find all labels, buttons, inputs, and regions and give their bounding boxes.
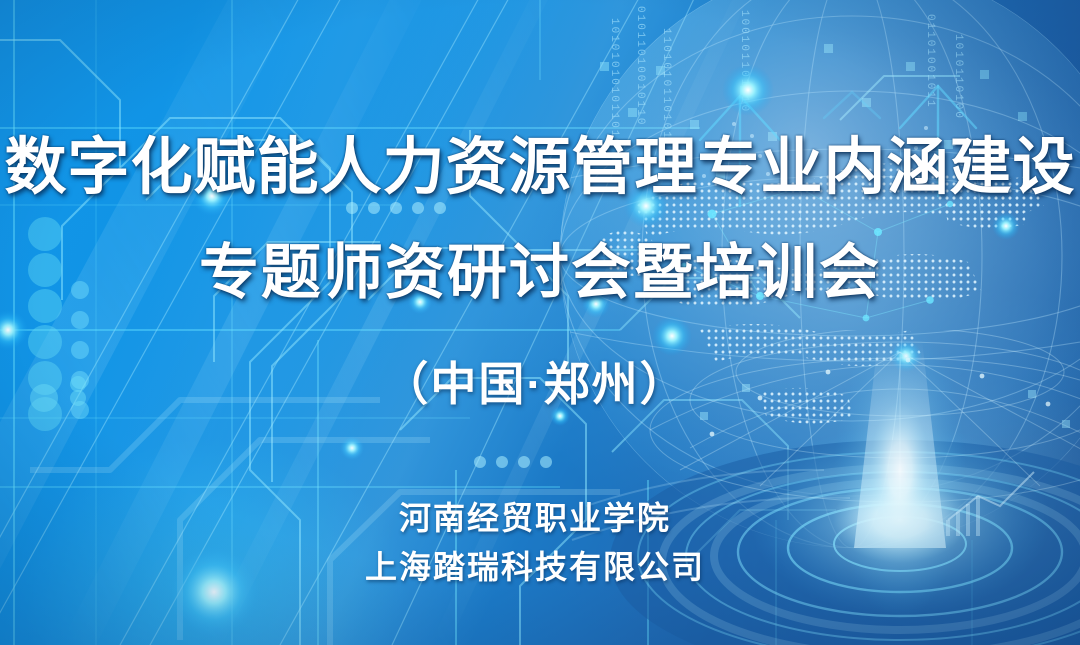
banner-title-line-1: 数字化赋能人力资源管理专业内涵建设	[0, 116, 1080, 206]
banner-title-line-2: 专题师资研讨会暨培训会	[0, 224, 1080, 311]
banner-text-block: 数字化赋能人力资源管理专业内涵建设 专题师资研讨会暨培训会 （中国·郑州） 河南…	[0, 0, 1080, 645]
organizer-primary: 河南经贸职业学院	[0, 493, 1080, 539]
banner-location: （中国·郑州）	[0, 348, 1080, 414]
conference-banner: 101010101011010 01011010010110 110101011…	[0, 0, 1080, 645]
organizer-secondary: 上海踏瑞科技有限公司	[0, 542, 1080, 588]
